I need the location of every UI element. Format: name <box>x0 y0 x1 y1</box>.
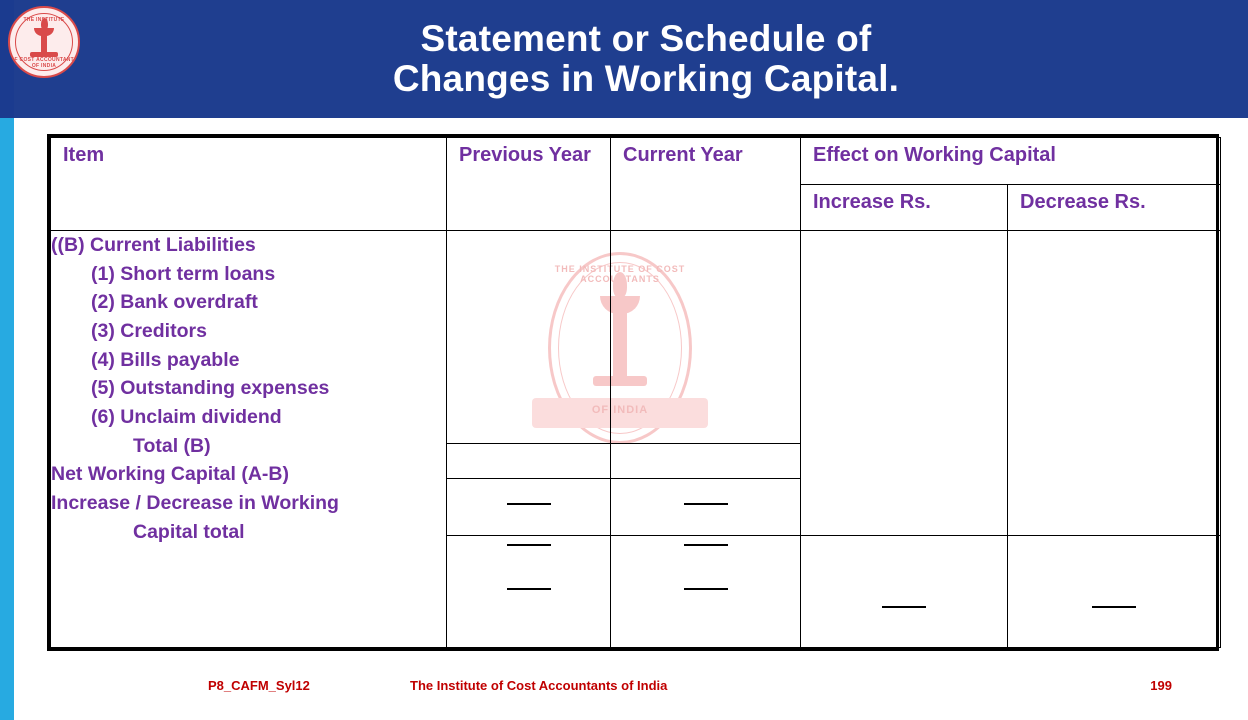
cell-increase-upper[interactable] <box>801 231 1008 536</box>
institute-logo-icon: THE INSTITUTE OF COST ACCOUNTANTS OF IND… <box>8 6 80 78</box>
cell-current-year-net-wc[interactable] <box>611 479 801 536</box>
list-item: ((B) Current Liabilities <box>51 231 446 260</box>
cell-increase-bottom[interactable] <box>801 536 1008 648</box>
cell-decrease-bottom[interactable] <box>1008 536 1221 648</box>
cell-decrease-upper[interactable] <box>1008 231 1221 536</box>
list-item: Net Working Capital (A-B) <box>51 460 446 489</box>
page-title-line1: Statement or Schedule of <box>421 18 872 59</box>
footer-page-number: 199 <box>1150 678 1172 693</box>
cell-previous-year-liabilities[interactable] <box>447 231 611 444</box>
column-header-increase: Increase Rs. <box>801 184 1008 231</box>
slide-footer: P8_CAFM_Syl12 The Institute of Cost Acco… <box>0 672 1248 706</box>
column-header-current-year: Current Year <box>611 138 801 231</box>
column-header-decrease: Decrease Rs. <box>1008 184 1221 231</box>
list-item: (1) Short term loans <box>51 260 446 289</box>
cell-previous-year-bottom[interactable] <box>447 536 611 648</box>
table-header-row-1: Item Previous Year Current Year Effect o… <box>51 138 1221 185</box>
cell-current-year-liabilities[interactable] <box>611 231 801 444</box>
dash-mark <box>684 588 728 590</box>
cell-previous-year-net-wc[interactable] <box>447 479 611 536</box>
table-row: ((B) Current Liabilities (1) Short term … <box>51 231 1221 444</box>
list-item: (2) Bank overdraft <box>51 288 446 317</box>
column-header-previous-year: Previous Year <box>447 138 611 231</box>
cell-previous-year-total-b[interactable] <box>447 444 611 479</box>
dash-mark <box>684 503 728 505</box>
working-capital-table: Item Previous Year Current Year Effect o… <box>47 134 1219 651</box>
dash-mark <box>507 544 551 546</box>
item-list-cell: ((B) Current Liabilities (1) Short term … <box>51 231 447 648</box>
cell-current-year-total-b[interactable] <box>611 444 801 479</box>
page-title: Statement or Schedule of Changes in Work… <box>353 19 909 99</box>
page-title-line2: Changes in Working Capital. <box>393 59 899 99</box>
dash-mark <box>1092 606 1136 608</box>
dash-mark <box>507 588 551 590</box>
dash-mark <box>684 544 728 546</box>
logo-lamp-stem <box>41 34 47 54</box>
list-item: Capital total <box>51 518 446 547</box>
dash-mark <box>882 606 926 608</box>
left-accent-bar-cyan <box>0 118 14 720</box>
column-header-item: Item <box>51 138 447 231</box>
list-item: (6) Unclaim dividend <box>51 403 446 432</box>
list-item: (4) Bills payable <box>51 346 446 375</box>
list-item: Total (B) <box>51 432 446 461</box>
list-item: (3) Creditors <box>51 317 446 346</box>
footer-subject-code: P8_CAFM_Syl12 <box>208 678 310 693</box>
list-item: Increase / Decrease in Working <box>51 489 446 518</box>
slide-header: Statement or Schedule of Changes in Work… <box>14 0 1248 118</box>
dash-mark <box>507 503 551 505</box>
cell-current-year-bottom[interactable] <box>611 536 801 648</box>
column-header-effect: Effect on Working Capital <box>801 138 1221 185</box>
logo-bottom-text: OF COST ACCOUNTANTS OF INDIA <box>10 57 78 69</box>
footer-institute-name: The Institute of Cost Accountants of Ind… <box>410 678 667 693</box>
list-item: (5) Outstanding expenses <box>51 374 446 403</box>
